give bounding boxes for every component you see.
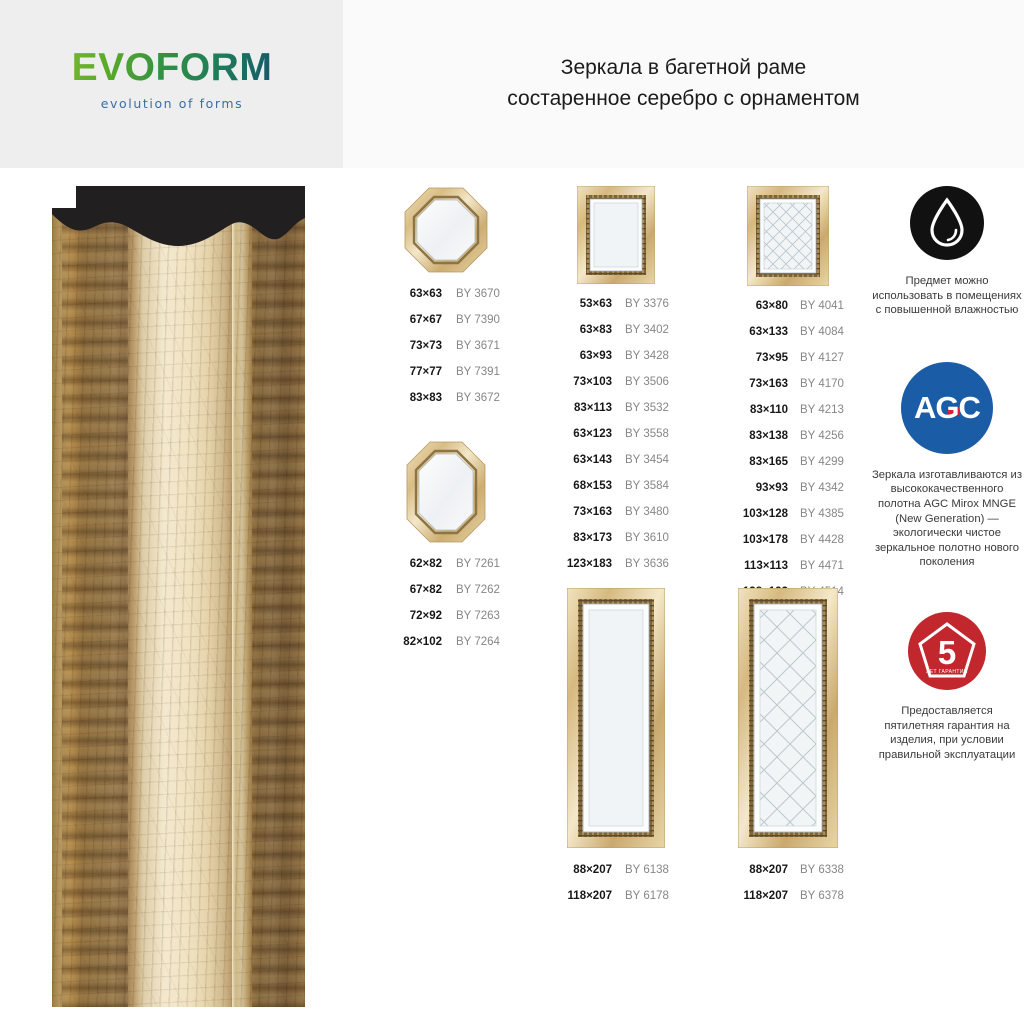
size-row[interactable]: 88×207BY 6138 <box>548 864 684 890</box>
size-row[interactable]: 83×138BY 4256 <box>718 430 858 456</box>
size-dimension: 123×183 <box>548 558 612 570</box>
product-code: BY 7264 <box>456 636 500 648</box>
product-code: BY 3671 <box>456 340 500 352</box>
size-row[interactable]: 83×173BY 3610 <box>548 532 684 558</box>
size-dimension: 103×128 <box>718 508 788 520</box>
size-row[interactable]: 63×133BY 4084 <box>718 326 858 352</box>
mirror-thumbnail-tall-facet[interactable] <box>718 588 858 848</box>
product-code: BY 4256 <box>800 430 844 442</box>
size-row[interactable]: 63×63BY 3670 <box>380 288 512 314</box>
product-code: BY 6338 <box>800 864 844 876</box>
size-dimension: 73×95 <box>718 352 788 364</box>
warranty-pentagon-glyph: 5 ЛЕТ ГАРАНТИИ <box>908 612 986 690</box>
size-dimension: 83×165 <box>718 456 788 468</box>
size-dimension: 77×77 <box>380 366 442 378</box>
product-code: BY 3376 <box>625 298 669 310</box>
product-group-rect-plain: 53×63BY 337663×83BY 340263×93BY 342873×1… <box>548 186 684 584</box>
agc-label: AGC <box>914 390 980 426</box>
size-dimension: 83×138 <box>718 430 788 442</box>
size-row[interactable]: 73×95BY 4127 <box>718 352 858 378</box>
size-list-tall-facet: 88×207BY 6338118×207BY 6378 <box>718 864 858 916</box>
logo-tagline: evolution of forms <box>62 96 282 111</box>
warranty-5-years-icon: 5 ЛЕТ ГАРАНТИИ <box>870 612 1024 690</box>
size-row[interactable]: 73×73BY 3671 <box>380 340 512 366</box>
size-dimension: 83×173 <box>548 532 612 544</box>
size-dimension: 72×92 <box>380 610 442 622</box>
product-column-3: 63×80BY 404163×133BY 408473×95BY 412773×… <box>718 186 858 612</box>
page-title: Зеркала в багетной раме состаренное сере… <box>343 52 1024 114</box>
mirror-thumbnail-rect-plain[interactable] <box>548 186 684 284</box>
product-code: BY 4342 <box>800 482 844 494</box>
product-code: BY 3672 <box>456 392 500 404</box>
size-list-tall-plain: 88×207BY 6138118×207BY 6178 <box>548 864 684 916</box>
size-dimension: 62×82 <box>380 558 442 570</box>
size-dimension: 83×110 <box>718 404 788 416</box>
product-code: BY 3558 <box>625 428 669 440</box>
octagon-tall-mirror-art <box>405 440 487 544</box>
badge-agc-text: Зеркала изготавливаются из высококачеств… <box>870 468 1024 570</box>
size-dimension: 63×80 <box>718 300 788 312</box>
warranty-sublabel: ЛЕТ ГАРАНТИИ <box>926 669 968 675</box>
size-row[interactable]: 72×92BY 7263 <box>380 610 512 636</box>
size-row[interactable]: 53×63BY 3376 <box>548 298 684 324</box>
mirror-thumbnail-tall-plain[interactable] <box>548 588 684 848</box>
size-row[interactable]: 113×113BY 4471 <box>718 560 858 586</box>
size-dimension: 82×102 <box>380 636 442 648</box>
product-code: BY 3480 <box>625 506 669 518</box>
badge-humidity-text: Предмет можно использовать в помещениях … <box>870 274 1024 318</box>
warranty-number: 5 <box>938 634 956 671</box>
tall-rect-mirror-art <box>567 588 665 848</box>
size-dimension: 118×207 <box>718 890 788 902</box>
product-code: BY 3454 <box>625 454 669 466</box>
size-row[interactable]: 73×163BY 3480 <box>548 506 684 532</box>
size-dimension: 53×63 <box>548 298 612 310</box>
product-group-octagon-tall: 62×82BY 726167×82BY 726272×92BY 726382×1… <box>380 440 512 662</box>
water-drop-glyph <box>910 186 984 260</box>
size-row[interactable]: 103×178BY 4428 <box>718 534 858 560</box>
product-code: BY 3610 <box>625 532 669 544</box>
size-row[interactable]: 68×153BY 3584 <box>548 480 684 506</box>
size-dimension: 63×93 <box>548 350 612 362</box>
frame-sample-ornament-left <box>62 214 128 1007</box>
size-row[interactable]: 63×93BY 3428 <box>548 350 684 376</box>
mirror-thumbnail-rect-facet[interactable] <box>718 186 858 286</box>
size-row[interactable]: 82×102BY 7264 <box>380 636 512 662</box>
badge-warranty-text: Предоставляется пятилетняя гарантия на и… <box>870 704 1024 762</box>
product-code: BY 6138 <box>625 864 669 876</box>
size-row[interactable]: 67×82BY 7262 <box>380 584 512 610</box>
size-dimension: 63×143 <box>548 454 612 466</box>
product-code: BY 3402 <box>625 324 669 336</box>
size-row[interactable]: 93×93BY 4342 <box>718 482 858 508</box>
product-group-rect-tall-plain: 88×207BY 6138118×207BY 6178 <box>548 588 684 916</box>
mirror-thumbnail-octagon-tall[interactable] <box>380 440 512 544</box>
size-row[interactable]: 63×123BY 3558 <box>548 428 684 454</box>
logo-wordmark: EVOFORM <box>62 48 282 87</box>
product-code: BY 7262 <box>456 584 500 596</box>
size-row[interactable]: 73×163BY 4170 <box>718 378 858 404</box>
size-dimension: 103×178 <box>718 534 788 546</box>
size-dimension: 63×63 <box>380 288 442 300</box>
agc-logo-icon: AGC <box>870 362 1024 454</box>
size-dimension: 63×133 <box>718 326 788 338</box>
size-row[interactable]: 88×207BY 6338 <box>718 864 858 890</box>
frame-sample-edge-highlight <box>232 214 236 1007</box>
product-column-1: 63×63BY 367067×67BY 739073×73BY 367177×7… <box>380 186 512 662</box>
frame-sample-notch <box>52 186 76 208</box>
size-row[interactable]: 103×128BY 4385 <box>718 508 858 534</box>
product-code: BY 7263 <box>456 610 500 622</box>
size-dimension: 67×67 <box>380 314 442 326</box>
product-code: BY 6178 <box>625 890 669 902</box>
badge-humidity: Предмет можно использовать в помещениях … <box>870 186 1024 318</box>
mirror-thumbnail-octagon[interactable] <box>380 186 512 274</box>
product-code: BY 6378 <box>800 890 844 902</box>
size-dimension: 73×73 <box>380 340 442 352</box>
size-row[interactable]: 77×77BY 7391 <box>380 366 512 392</box>
frame-sample-ornament-right <box>252 214 305 1007</box>
size-dimension: 63×123 <box>548 428 612 440</box>
size-row[interactable]: 83×110BY 4213 <box>718 404 858 430</box>
product-code: BY 3670 <box>456 288 500 300</box>
page-header: EVOFORM evolution of forms Зеркала в баг… <box>0 0 1024 168</box>
size-row[interactable]: 63×143BY 3454 <box>548 454 684 480</box>
size-row[interactable]: 83×165BY 4299 <box>718 456 858 482</box>
size-dimension: 73×163 <box>718 378 788 390</box>
rect-mirror-art <box>577 186 655 284</box>
size-row[interactable]: 67×67BY 7390 <box>380 314 512 340</box>
product-code: BY 3584 <box>625 480 669 492</box>
size-dimension: 73×163 <box>548 506 612 518</box>
info-sidebar: Предмет можно использовать в помещениях … <box>870 186 1024 762</box>
tall-facet-mirror-art <box>738 588 838 848</box>
product-code: BY 3506 <box>625 376 669 388</box>
size-dimension: 93×93 <box>718 482 788 494</box>
badge-agc: AGC Зеркала изготавливаются из высококач… <box>870 362 1024 570</box>
size-dimension: 83×113 <box>548 402 612 414</box>
page-title-line-1: Зеркала в багетной раме <box>343 52 1024 83</box>
size-row[interactable]: 83×113BY 3532 <box>548 402 684 428</box>
size-dimension: 113×113 <box>718 560 788 572</box>
product-group-octagon-square: 63×63BY 367067×67BY 739073×73BY 367177×7… <box>380 186 512 418</box>
size-row[interactable]: 118×207BY 6178 <box>548 890 684 916</box>
product-code: BY 4084 <box>800 326 844 338</box>
product-code: BY 4299 <box>800 456 844 468</box>
badge-warranty: 5 ЛЕТ ГАРАНТИИ Предоставляется пятилетня… <box>870 612 1024 762</box>
size-row[interactable]: 123×183BY 3636 <box>548 558 684 584</box>
octagon-mirror-art <box>403 186 489 274</box>
product-code: BY 7391 <box>456 366 500 378</box>
size-dimension: 88×207 <box>718 864 788 876</box>
frame-profile-sample <box>52 186 305 1007</box>
product-code: BY 3636 <box>625 558 669 570</box>
size-row[interactable]: 63×83BY 3402 <box>548 324 684 350</box>
product-code: BY 4213 <box>800 404 844 416</box>
size-list-rect-facet: 63×80BY 404163×133BY 408473×95BY 412773×… <box>718 300 858 612</box>
size-dimension: 67×82 <box>380 584 442 596</box>
size-row[interactable]: 63×80BY 4041 <box>718 300 858 326</box>
brand-logo[interactable]: EVOFORM evolution of forms <box>62 48 282 111</box>
product-code: BY 4471 <box>800 560 844 572</box>
product-code: BY 4385 <box>800 508 844 520</box>
size-dimension: 88×207 <box>548 864 612 876</box>
product-code: BY 4170 <box>800 378 844 390</box>
size-list-rect-plain: 53×63BY 337663×83BY 340263×93BY 342873×1… <box>548 298 684 584</box>
size-row[interactable]: 73×103BY 3506 <box>548 376 684 402</box>
size-list-octagon-square: 63×63BY 367067×67BY 739073×73BY 367177×7… <box>380 288 512 418</box>
product-code: BY 4127 <box>800 352 844 364</box>
page-title-line-2: состаренное серебро с орнаментом <box>343 83 1024 114</box>
product-code: BY 7390 <box>456 314 500 326</box>
size-row[interactable]: 83×83BY 3672 <box>380 392 512 418</box>
size-dimension: 73×103 <box>548 376 612 388</box>
size-list-octagon-tall: 62×82BY 726167×82BY 726272×92BY 726382×1… <box>380 558 512 662</box>
product-group-rect-facet: 63×80BY 404163×133BY 408473×95BY 412773×… <box>718 186 858 612</box>
size-row[interactable]: 62×82BY 7261 <box>380 558 512 584</box>
product-code: BY 4041 <box>800 300 844 312</box>
product-code: BY 7261 <box>456 558 500 570</box>
product-column-2: 53×63BY 337663×83BY 340263×93BY 342873×1… <box>548 186 684 584</box>
frame-sample-top-wave <box>52 208 305 246</box>
size-dimension: 63×83 <box>548 324 612 336</box>
size-dimension: 68×153 <box>548 480 612 492</box>
size-dimension: 83×83 <box>380 392 442 404</box>
size-dimension: 118×207 <box>548 890 612 902</box>
product-group-rect-tall-facet: 88×207BY 6338118×207BY 6378 <box>718 588 858 916</box>
water-drop-icon <box>870 186 1024 260</box>
product-code: BY 3428 <box>625 350 669 362</box>
product-code: BY 4428 <box>800 534 844 546</box>
rect-facet-mirror-art <box>747 186 829 286</box>
product-code: BY 3532 <box>625 402 669 414</box>
size-row[interactable]: 118×207BY 6378 <box>718 890 858 916</box>
